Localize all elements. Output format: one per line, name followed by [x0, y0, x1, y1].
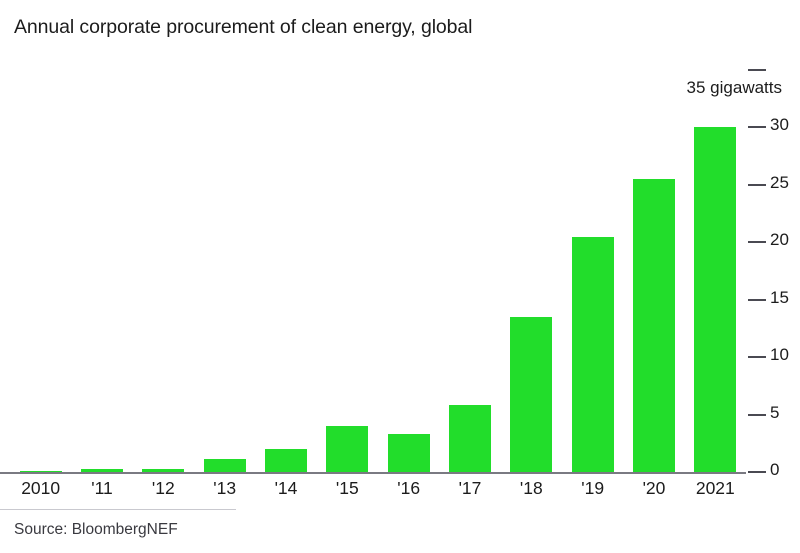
x-tick-label-16: '16: [378, 478, 439, 499]
y-tick-label: 25: [770, 174, 789, 191]
y-tick-mark: [748, 471, 766, 473]
page-title: Annual corporate procurement of clean en…: [14, 16, 472, 39]
y-tick-mark: [748, 299, 766, 301]
y-axis: 051015202530: [746, 70, 800, 480]
y-tick-mark: [748, 356, 766, 358]
x-tick-label-2010: 2010: [10, 478, 71, 499]
bar-rect: [694, 127, 736, 472]
bar-rect: [572, 237, 614, 472]
bar-rect: [388, 434, 430, 472]
y-tick-label: 20: [770, 231, 789, 248]
bar-2010: [20, 70, 62, 472]
y-tick-mark: [748, 126, 766, 128]
bar-15: [326, 70, 368, 472]
bar-rect: [633, 179, 675, 472]
plot-area: 35 gigawatts 051015202530: [0, 70, 800, 475]
bar-19: [572, 70, 614, 472]
bar-16: [388, 70, 430, 472]
bar-series: [10, 70, 746, 472]
x-tick-label-14: '14: [255, 478, 316, 499]
x-tick-label-11: '11: [71, 478, 132, 499]
bar-14: [265, 70, 307, 472]
bar-rect: [510, 317, 552, 472]
y-tick-mark: [748, 69, 766, 71]
bar-11: [81, 70, 123, 472]
y-tick-label: 5: [770, 404, 779, 421]
bar-20: [633, 70, 675, 472]
y-tick-mark: [748, 184, 766, 186]
source-note: Source: BloombergNEF: [14, 521, 178, 539]
bar-13: [204, 70, 246, 472]
x-tick-label-19: '19: [562, 478, 623, 499]
bar-rect: [265, 449, 307, 472]
x-tick-label-12: '12: [133, 478, 194, 499]
y-tick-label: 10: [770, 346, 789, 363]
bar-18: [510, 70, 552, 472]
y-tick-label: 30: [770, 116, 789, 133]
y-tick-label: 0: [770, 461, 779, 478]
x-tick-label-2021: 2021: [685, 478, 746, 499]
bar-17: [449, 70, 491, 472]
x-tick-label-15: '15: [317, 478, 378, 499]
x-tick-label-18: '18: [501, 478, 562, 499]
x-tick-label-17: '17: [439, 478, 500, 499]
chart-container: Annual corporate procurement of clean en…: [0, 0, 800, 553]
x-tick-label-20: '20: [623, 478, 684, 499]
y-tick-label: 15: [770, 289, 789, 306]
bar-rect: [449, 405, 491, 472]
axis-baseline: [0, 472, 746, 474]
y-tick-mark: [748, 241, 766, 243]
y-tick-mark: [748, 414, 766, 416]
bar-rect: [204, 459, 246, 472]
bar-rect: [326, 426, 368, 472]
x-axis: 2010'11'12'13'14'15'16'17'18'19'202021: [10, 478, 746, 506]
footer-divider: [0, 509, 236, 510]
bar-12: [142, 70, 184, 472]
bar-2021: [694, 70, 736, 472]
x-tick-label-13: '13: [194, 478, 255, 499]
